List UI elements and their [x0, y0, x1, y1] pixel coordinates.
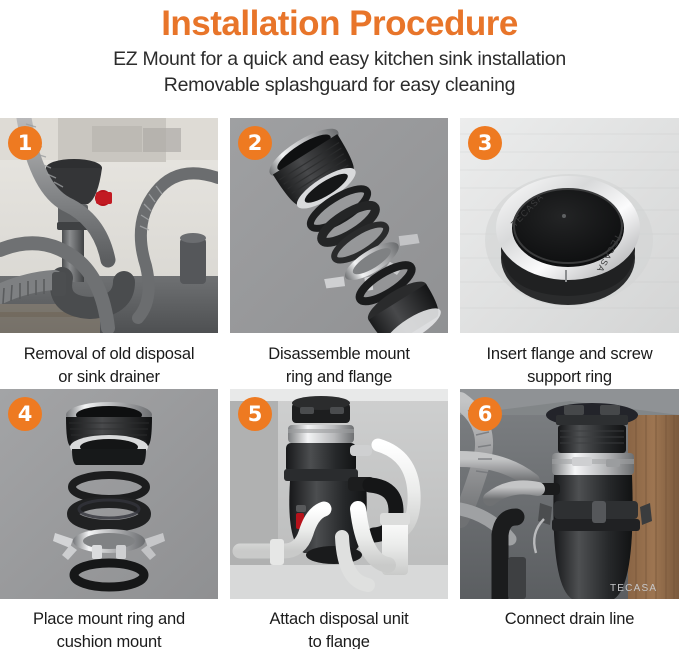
step-caption-3-line-2: support ring [460, 366, 679, 389]
step-badge-2: 2 [238, 126, 272, 160]
step-caption-4: Place mount ring and cushion mount [0, 599, 218, 649]
step-caption-5-line-2: to flange [230, 631, 448, 649]
step-caption-2-line-2: ring and flange [230, 366, 448, 389]
step-caption-2-line-1: Disassemble mount [230, 343, 448, 366]
step-badge-4: 4 [8, 397, 42, 431]
step-5-photo: 5 [230, 389, 448, 599]
step-caption-3: Insert flange and screw support ring [460, 333, 679, 389]
infographic-page: Installation Procedure EZ Mount for a qu… [0, 0, 679, 649]
step-caption-6: Connect drain line [460, 599, 679, 631]
step-1-photo: 1 [0, 118, 218, 333]
page-title: Installation Procedure [0, 0, 679, 46]
step-caption-2: Disassemble mount ring and flange [230, 333, 448, 389]
step-caption-6-line-1: Connect drain line [460, 608, 679, 631]
step-caption-3-line-1: Insert flange and screw [460, 343, 679, 366]
step-card-2: 2 Disassemble mount ring and flange [230, 118, 448, 389]
step-badge-3: 3 [468, 126, 502, 160]
step-card-4: 4 Place mount ring and cushion mount [0, 389, 218, 649]
steps-grid: 1 Removal of old disposal or sink draine… [0, 118, 679, 649]
subtitle-line-2: Removable splashguard for easy cleaning [0, 72, 679, 98]
step-card-5: 5 Attach disposal unit to flange [230, 389, 448, 649]
step-6-photo: TECASA 6 [460, 389, 679, 599]
step-caption-1: Removal of old disposal or sink drainer [0, 333, 218, 389]
step-card-1: 1 Removal of old disposal or sink draine… [0, 118, 218, 389]
step-caption-1-line-2: or sink drainer [0, 366, 218, 389]
step-caption-4-line-1: Place mount ring and [0, 608, 218, 631]
step-caption-5: Attach disposal unit to flange [230, 599, 448, 649]
step-4-photo: 4 [0, 389, 218, 599]
step-caption-5-line-1: Attach disposal unit [230, 608, 448, 631]
step-2-photo: 2 [230, 118, 448, 333]
step-caption-1-line-1: Removal of old disposal [0, 343, 218, 366]
step-3-photo: TECASA TECASA 3 [460, 118, 679, 333]
step-badge-6: 6 [468, 397, 502, 431]
step-badge-5: 5 [238, 397, 272, 431]
disposal-brand-label: TECASA [610, 583, 657, 594]
step-card-6: TECASA 6 Connect drain line [460, 389, 679, 649]
subtitle-line-1: EZ Mount for a quick and easy kitchen si… [0, 46, 679, 72]
step-card-3: TECASA TECASA 3 Insert flange and screw … [460, 118, 679, 389]
step-badge-1: 1 [8, 126, 42, 160]
step-caption-4-line-2: cushion mount [0, 631, 218, 649]
